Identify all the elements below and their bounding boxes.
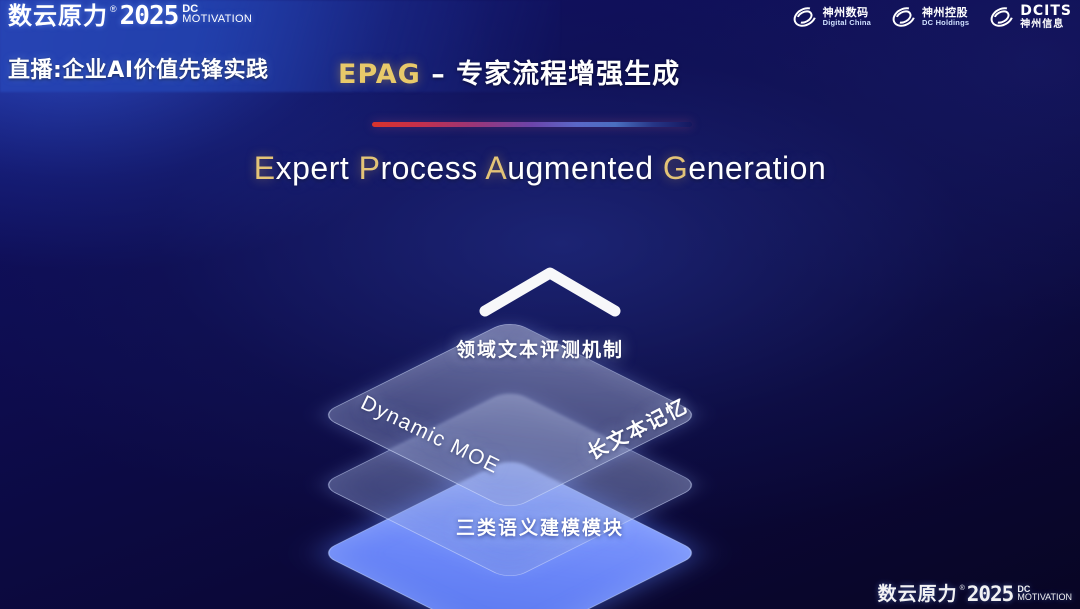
partner-name-en: DC Holdings — [922, 19, 969, 27]
subtitle-word-2-cap: A — [485, 150, 507, 186]
stack-layer-top — [280, 225, 740, 475]
page-title-cn: – 专家流程增强生成 — [431, 59, 680, 90]
footer-logo-year: 2025 — [967, 584, 1014, 605]
partner-text-block: 神州数码 Digital China — [823, 7, 871, 27]
brand-logo-dc-motivation: DC MOTIVATION — [182, 3, 252, 25]
brand-logo-registered-mark: ® — [110, 3, 117, 15]
partner-name-cn: 神州信息 — [1020, 20, 1072, 31]
subtitle-word-0-rest: xpert — [276, 150, 350, 186]
footer-logo-dc-motivation: DC MOTIVATION — [1017, 584, 1072, 602]
subtitle-word-1-rest: rocess — [380, 150, 477, 186]
footer-logo-motivation: MOTIVATION — [1017, 593, 1072, 602]
brand-logo: 数云原力 ® 2025 DC MOTIVATION — [8, 3, 252, 29]
partner-logo-dc-holdings: 神州控股 DC Holdings — [891, 6, 969, 28]
subtitle-word-2-rest: ugmented — [507, 150, 653, 186]
brand-logo-cn: 数云原力 — [8, 3, 108, 29]
layer-stack-diagram: 领域文本评测机制 Dynamic MOE 长文本记忆 三类语义建模模块 — [280, 225, 800, 585]
brand-logo-motivation: MOTIVATION — [182, 14, 252, 25]
subtitle-word-0-cap: E — [254, 150, 276, 186]
swoosh-icon — [989, 6, 1015, 28]
swoosh-icon — [792, 6, 818, 28]
subtitle-expansion: Expert Process Augmented Generation — [0, 150, 1080, 187]
brand-logo-year: 2025 — [120, 3, 179, 29]
footer-logo-cn: 数云原力 — [878, 584, 958, 605]
partner-logo-dcits: DCITS 神州信息 — [989, 4, 1072, 30]
live-stream-label: 直播:企业AI价值先锋实践 — [8, 52, 269, 84]
subtitle-word-1-cap: P — [359, 150, 381, 186]
partner-text-block: 神州控股 DC Holdings — [922, 7, 969, 27]
partner-name-cn: 神州控股 — [922, 7, 969, 19]
page-title-acronym: EPAG — [338, 59, 421, 90]
slide-canvas: 数云原力 ® 2025 DC MOTIVATION 直播:企业AI价值先锋实践 … — [0, 0, 1080, 609]
subtitle-word-3-rest: eneration — [688, 150, 826, 186]
footer-watermark-logo: 数云原力 ® 2025 DC MOTIVATION — [878, 584, 1072, 605]
partner-logo-bar: 神州数码 Digital China 神州控股 DC Holdings DCIT… — [792, 4, 1072, 30]
page-title: EPAG – 专家流程增强生成 — [338, 52, 680, 91]
partner-name-en: DCITS — [1020, 4, 1072, 19]
partner-logo-digital-china: 神州数码 Digital China — [792, 6, 871, 28]
partner-name-cn: 神州数码 — [823, 7, 871, 19]
partner-name-en: Digital China — [823, 19, 871, 27]
subtitle-word-3-cap: G — [663, 150, 688, 186]
title-divider — [372, 122, 692, 127]
partner-text-block: DCITS 神州信息 — [1020, 4, 1072, 30]
swoosh-icon — [891, 6, 917, 28]
footer-logo-registered-mark: ® — [960, 584, 965, 594]
